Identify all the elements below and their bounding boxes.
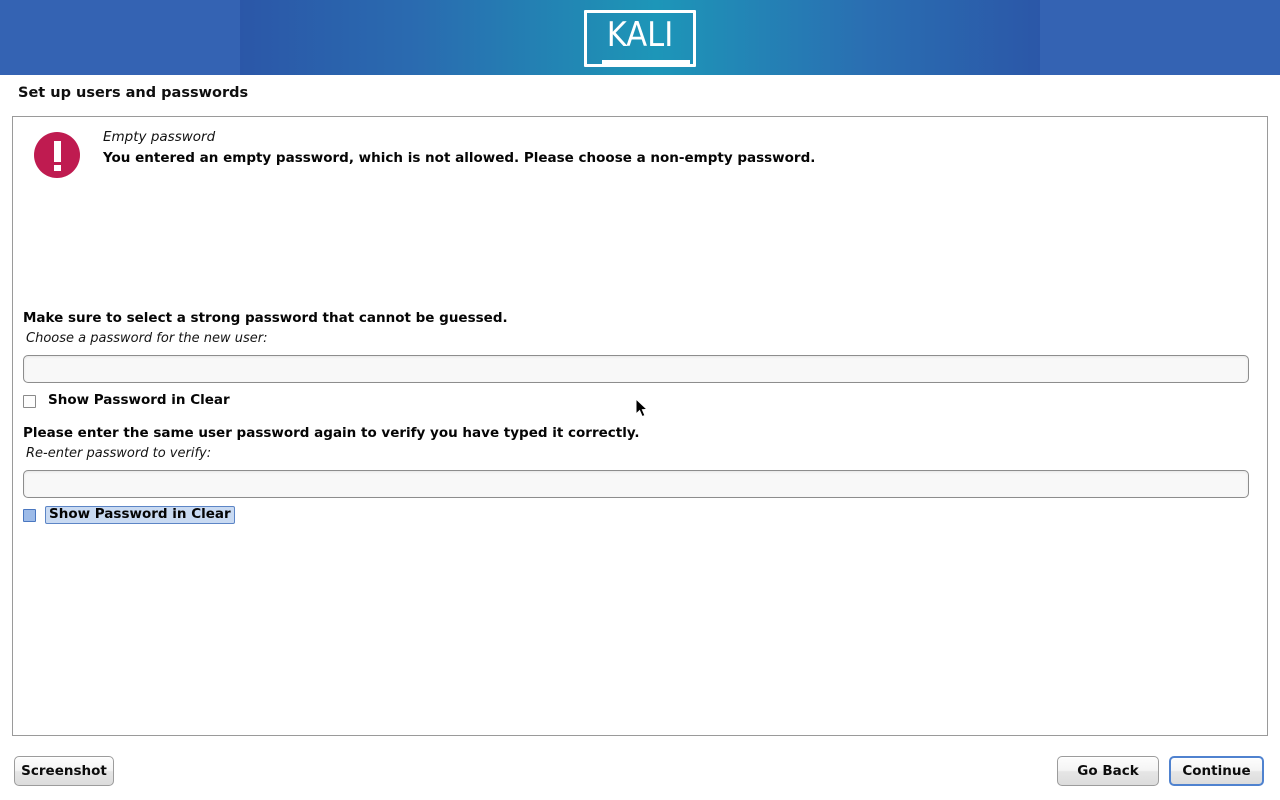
kali-logo-underbar [602, 60, 690, 65]
page-title: Set up users and passwords [18, 85, 248, 101]
show-password-checkbox-1[interactable] [23, 395, 36, 408]
password-field-label: Choose a password for the new user: [26, 331, 268, 346]
screenshot-button[interactable]: Screenshot [14, 756, 114, 786]
password-strength-heading: Make sure to select a strong password th… [23, 310, 508, 326]
installer-banner: KALI [0, 0, 1280, 75]
show-password-checkbox-row-1[interactable]: Show Password in Clear [23, 392, 233, 410]
show-password-checkbox-row-2[interactable]: Show Password in Clear [23, 506, 235, 524]
error-exclamation-icon [34, 132, 80, 178]
kali-logo-icon: KALI [584, 10, 696, 67]
password-verify-field-label: Re-enter password to verify: [26, 446, 211, 461]
exclamation-dot [54, 165, 61, 171]
alert-title: Empty password [103, 128, 815, 147]
content-panel: Empty password You entered an empty pass… [12, 116, 1268, 736]
alert-banner: Empty password You entered an empty pass… [23, 127, 1253, 178]
show-password-checkbox-2[interactable] [23, 509, 36, 522]
exclamation-stem [54, 141, 61, 162]
password-verify-input[interactable] [23, 470, 1249, 498]
password-verify-heading: Please enter the same user password agai… [23, 425, 640, 441]
go-back-button[interactable]: Go Back [1057, 756, 1159, 786]
password-input[interactable] [23, 355, 1249, 383]
show-password-label-1[interactable]: Show Password in Clear [45, 392, 233, 410]
continue-button[interactable]: Continue [1169, 756, 1264, 786]
alert-message: You entered an empty password, which is … [103, 148, 815, 169]
kali-logo: KALI [0, 8, 1280, 68]
show-password-label-2[interactable]: Show Password in Clear [45, 506, 235, 524]
kali-logo-wordmark: KALI [584, 15, 696, 55]
alert-text-group: Empty password You entered an empty pass… [103, 127, 815, 169]
